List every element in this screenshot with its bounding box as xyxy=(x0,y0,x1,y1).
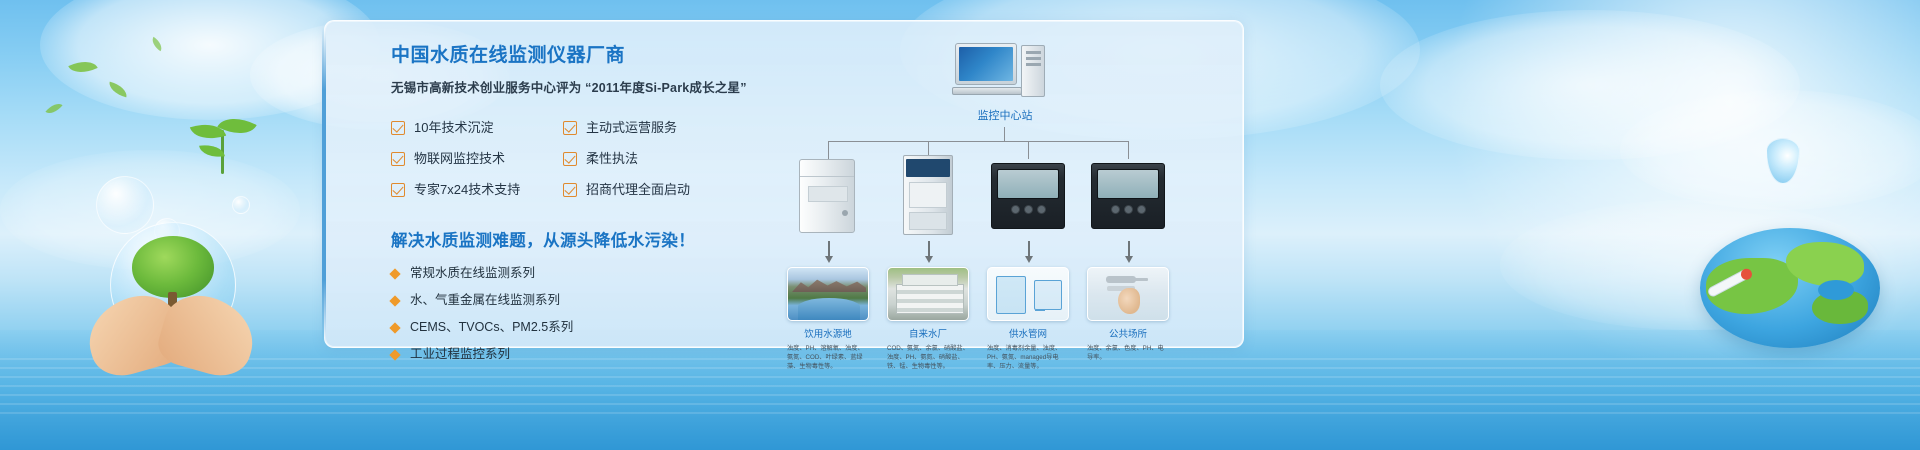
water-droplet-icon xyxy=(1766,138,1800,184)
scene-description: 浊度、消毒剂余量、浊度、PH、氨氮、managed导电率、压力、流量等。 xyxy=(987,344,1069,371)
down-arrow-icon xyxy=(828,241,830,257)
water-cabinet-device[interactable] xyxy=(789,153,867,239)
feature-item: 10年技术沉淀 xyxy=(391,119,563,137)
leaf-icon xyxy=(68,55,97,79)
page-title: 中国水质在线监测仪器厂商 xyxy=(391,43,791,69)
scene-card[interactable]: 供水管网 浊度、消毒剂余量、浊度、PH、氨氮、managed导电率、压力、流量等… xyxy=(987,267,1069,371)
feature-item: 主动式运营服务 xyxy=(563,119,791,137)
section-heading: 解决水质监测难题，从源头降低水污染！ xyxy=(391,227,791,251)
system-topology-diagram: 监控中心站 xyxy=(780,35,1230,341)
hands-holding-tree-illustration xyxy=(88,222,258,372)
feature-label: 物联网监控技术 xyxy=(414,150,505,168)
sprout-icon xyxy=(186,112,260,182)
checkbox-icon xyxy=(391,121,405,135)
list-item-label: 水、气重金属在线监测系列 xyxy=(410,292,560,309)
application-scene-row: 饮用水源地 浊度、PH、溶解氧、浊度、氨氮、COD、叶绿素、蓝绿藻、生物毒性等。… xyxy=(780,267,1230,343)
product-list: 常规水质在线监测系列 水、气重金属在线监测系列 CEMS、TVOCs、PM2.5… xyxy=(391,265,791,363)
scene-description: 浊度、余氯、色度、PH、电导率。 xyxy=(1087,344,1169,362)
feature-label: 专家7x24技术支持 xyxy=(414,181,520,199)
scene-card[interactable]: 自来水厂 COD、氨氮、余氯、硝酸盐、浊度、PH、氨氮、硝酸盐、铁、锰、生物毒性… xyxy=(887,267,969,371)
leaf-icon xyxy=(149,37,165,52)
analyzer-rack-device[interactable] xyxy=(889,153,967,239)
desktop-computer-icon xyxy=(955,43,1055,101)
down-arrow-icon xyxy=(928,241,930,257)
feature-label: 10年技术沉淀 xyxy=(414,119,493,137)
controller-panel-device-2[interactable] xyxy=(1089,153,1167,239)
diamond-bullet-icon xyxy=(389,268,400,279)
down-arrow-icon xyxy=(1028,241,1030,257)
pipeline-diagram-photo xyxy=(987,267,1069,321)
arrow-row xyxy=(780,241,1230,267)
feature-list: 10年技术沉淀 主动式运营服务 物联网监控技术 柔性执法 专家7x24技术支持 … xyxy=(391,119,791,199)
leaf-icon xyxy=(45,99,62,117)
feature-item: 物联网监控技术 xyxy=(391,150,563,168)
scene-card[interactable]: 公共场所 浊度、余氯、色度、PH、电导率。 xyxy=(1087,267,1169,362)
checkbox-icon xyxy=(563,152,577,166)
diamond-bullet-icon xyxy=(389,349,400,360)
list-item[interactable]: 水、气重金属在线监测系列 xyxy=(391,292,791,309)
checkbox-icon xyxy=(563,121,577,135)
scene-description: 浊度、PH、溶解氧、浊度、氨氮、COD、叶绿素、蓝绿藻、生物毒性等。 xyxy=(787,344,869,371)
feature-label: 招商代理全面启动 xyxy=(586,181,690,199)
banner-text-column: 中国水质在线监测仪器厂商 无锡市高新技术创业服务中心评为 “2011年度Si-P… xyxy=(391,43,791,373)
diamond-bullet-icon xyxy=(389,295,400,306)
list-item[interactable]: 常规水质在线监测系列 xyxy=(391,265,791,282)
scene-label: 自来水厂 xyxy=(887,326,969,340)
scene-label: 饮用水源地 xyxy=(787,326,869,340)
checkbox-icon xyxy=(391,183,405,197)
list-item-label: CEMS、TVOCs、PM2.5系列 xyxy=(410,319,573,336)
feature-label: 柔性执法 xyxy=(586,150,638,168)
banner-panel: 中国水质在线监测仪器厂商 无锡市高新技术创业服务中心评为 “2011年度Si-P… xyxy=(324,20,1244,348)
scene-description: COD、氨氮、余氯、硝酸盐、浊度、PH、氨氮、硝酸盐、铁、锰、生物毒性等。 xyxy=(887,344,969,371)
tap-water-hands-photo xyxy=(1087,267,1169,321)
scene-card[interactable]: 饮用水源地 浊度、PH、溶解氧、浊度、氨氮、COD、叶绿素、蓝绿藻、生物毒性等。 xyxy=(787,267,869,371)
feature-label: 主动式运营服务 xyxy=(586,119,677,137)
down-arrow-icon xyxy=(1128,241,1130,257)
cloud-decoration xyxy=(1380,10,1800,160)
feature-item: 柔性执法 xyxy=(563,150,791,168)
list-item-label: 常规水质在线监测系列 xyxy=(410,265,535,282)
bubble-decoration xyxy=(232,196,250,214)
list-item[interactable]: CEMS、TVOCs、PM2.5系列 xyxy=(391,319,791,336)
river-mountain-photo xyxy=(787,267,869,321)
list-item-label: 工业过程监控系列 xyxy=(410,346,510,363)
device-row xyxy=(780,153,1230,239)
feature-item: 专家7x24技术支持 xyxy=(391,181,563,199)
scene-label: 公共场所 xyxy=(1087,326,1169,340)
feature-item: 招商代理全面启动 xyxy=(563,181,791,199)
monitoring-center-label: 监控中心站 xyxy=(930,107,1080,123)
checkbox-icon xyxy=(391,152,405,166)
page-subtitle: 无锡市高新技术创业服务中心评为 “2011年度Si-Park成长之星” xyxy=(391,79,791,97)
water-treatment-plant-photo xyxy=(887,267,969,321)
controller-panel-device-1[interactable] xyxy=(989,153,1067,239)
scene-label: 供水管网 xyxy=(987,326,1069,340)
leaf-icon xyxy=(107,82,129,98)
diamond-bullet-icon xyxy=(389,322,400,333)
checkbox-icon xyxy=(563,183,577,197)
list-item[interactable]: 工业过程监控系列 xyxy=(391,346,791,363)
